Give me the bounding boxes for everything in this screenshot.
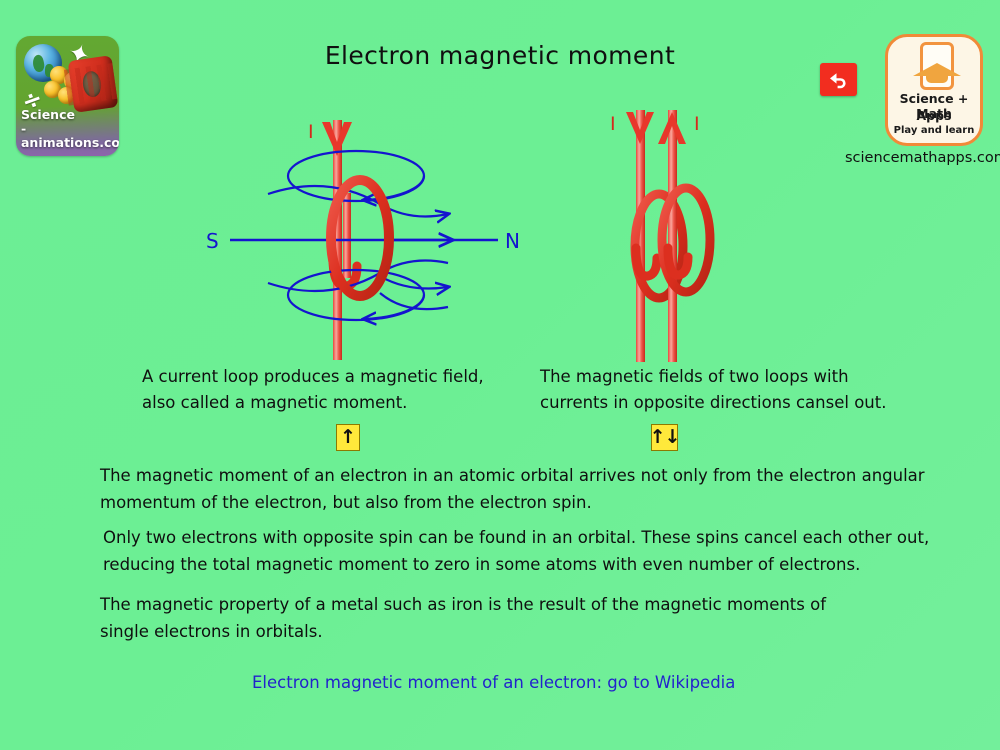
wikipedia-link[interactable]: Electron magnetic moment of an electron:… <box>252 673 735 692</box>
app-logo-line2: Apps <box>888 108 980 123</box>
two-opposite-loops-diagram: I I <box>590 98 760 373</box>
paragraph-2: Only two electrons with opposite spin ca… <box>103 524 933 578</box>
caption-right: The magnetic fields of two loops with cu… <box>540 364 886 416</box>
caption-right-line2: currents in opposite directions cansel o… <box>540 390 886 416</box>
back-arrow-icon <box>827 70 850 89</box>
south-pole-label: S <box>206 229 219 253</box>
north-pole-label: N <box>505 229 520 253</box>
app-website-label: sciencemathapps.com <box>845 150 995 166</box>
graduation-cap-icon <box>913 57 961 77</box>
app-logo-line3: Play and learn <box>888 125 980 136</box>
current-label-right-right: I <box>694 113 700 135</box>
spin-box-pair: ↑↓ <box>651 424 678 451</box>
caption-left-line1: A current loop produces a magnetic field… <box>142 364 484 390</box>
science-math-apps-logo[interactable]: Science + Math Apps Play and learn <box>885 34 983 146</box>
caption-left-line2: also called a magnetic moment. <box>142 390 484 416</box>
brand-badge-line2: -animations.com <box>21 122 119 150</box>
paragraph-3: The magnetic property of a metal such as… <box>100 591 930 645</box>
brand-badge-text: Science -animations.com <box>21 108 119 150</box>
paragraph-1: The magnetic moment of an electron in an… <box>100 462 930 516</box>
back-button[interactable] <box>820 63 857 96</box>
single-current-loop-diagram: I S N <box>190 98 550 373</box>
slide-canvas: ✦ ÷ Science -animations.com Electron mag… <box>0 0 1000 750</box>
spin-box-single: ↑ <box>336 424 360 451</box>
caption-right-line1: The magnetic fields of two loops with <box>540 364 886 390</box>
caption-left: A current loop produces a magnetic field… <box>142 364 484 416</box>
current-label-right-left: I <box>610 113 616 135</box>
brand-badge-line1: Science <box>21 108 119 122</box>
current-label-left: I <box>308 121 314 143</box>
